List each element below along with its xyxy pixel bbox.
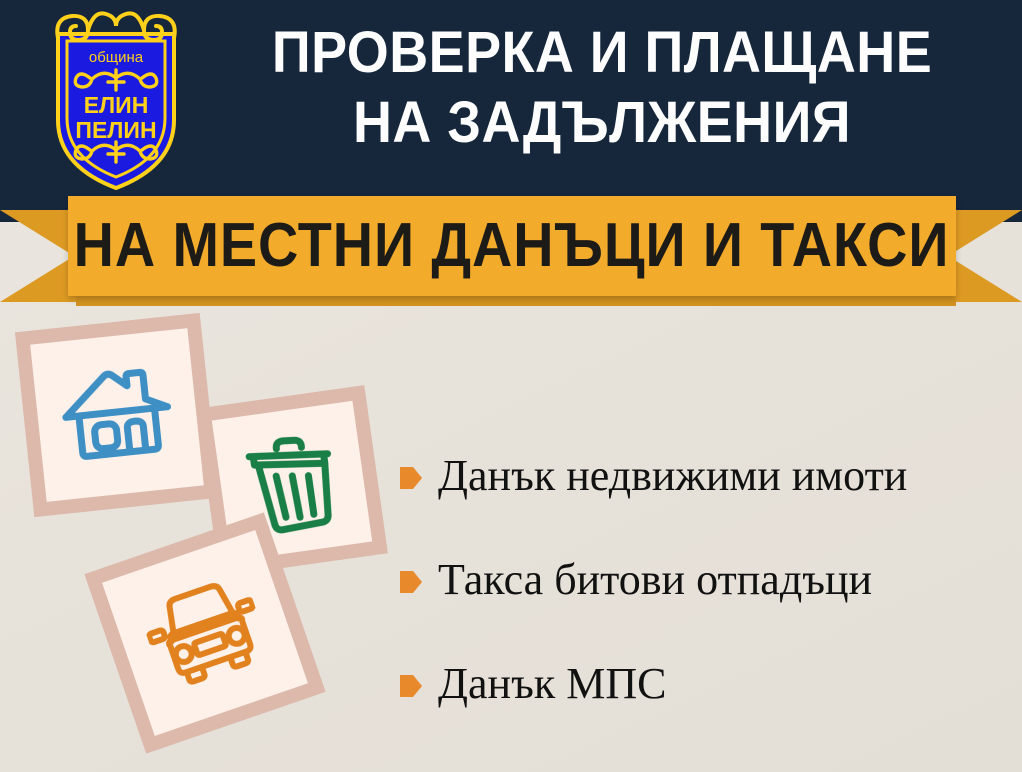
crest-label-elin: ЕЛИН — [84, 92, 149, 118]
list-item[interactable]: Данък МПС — [400, 632, 1010, 736]
crest-label-pelin: ПЕЛИН — [75, 117, 156, 143]
ribbon-text: НА МЕСТНИ ДАНЪЦИ И ТАКСИ — [74, 215, 950, 277]
arrow-bullet-icon — [400, 673, 422, 699]
house-icon — [57, 360, 177, 471]
header-title-line-2: НА ЗАДЪЛЖЕНИЯ — [224, 88, 979, 158]
header-title-line-1: ПРОВЕРКА И ПЛАЩАНЕ — [224, 18, 979, 88]
stamp-card-property-tax — [15, 313, 219, 517]
ribbon-banner: НА МЕСТНИ ДАНЪЦИ И ТАКСИ — [0, 196, 1022, 316]
list-item-label: Такса битови отпадъци — [438, 555, 872, 605]
list-item-label: Данък МПС — [438, 659, 666, 709]
tax-type-list: Данък недвижими имоти Такса битови отпад… — [400, 424, 1010, 736]
arrow-bullet-icon — [400, 569, 422, 595]
car-front-icon — [137, 570, 274, 695]
list-item[interactable]: Такса битови отпадъци — [400, 528, 1010, 632]
list-item-label: Данък недвижими имоти — [438, 451, 907, 501]
header-bar: община ЕЛИН ПЕЛИН ПРОВЕРКА И ПЛАЩАНЕ НА … — [0, 0, 1022, 196]
poster-canvas: община ЕЛИН ПЕЛИН ПРОВЕРКА И ПЛАЩАНЕ НА … — [0, 0, 1022, 772]
ribbon-main-panel: НА МЕСТНИ ДАНЪЦИ И ТАКСИ — [68, 196, 956, 296]
crest-svg: община ЕЛИН ПЕЛИН — [42, 8, 190, 190]
stamp-inner-house — [30, 328, 204, 502]
crest-label-obshtina: община — [89, 49, 144, 66]
header-title-block: ПРОВЕРКА И ПЛАЩАНЕ НА ЗАДЪЛЖЕНИЯ — [196, 18, 1008, 158]
coat-of-arms: община ЕЛИН ПЕЛИН — [42, 8, 190, 190]
list-item[interactable]: Данък недвижими имоти — [400, 424, 1010, 528]
arrow-bullet-icon — [400, 465, 422, 491]
stamp-inner-car — [102, 530, 308, 736]
